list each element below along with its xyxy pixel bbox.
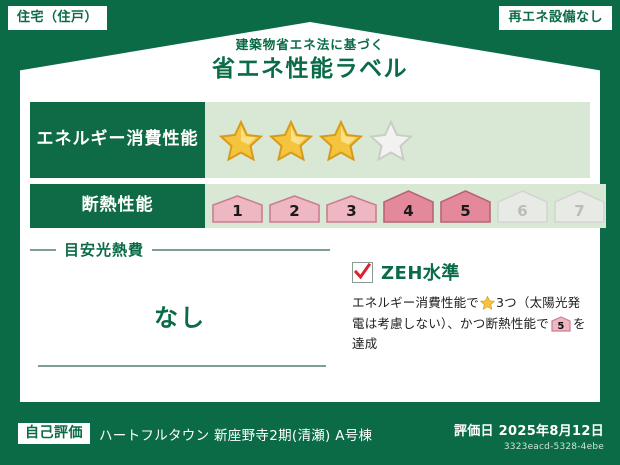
- grade-badge-number: 2: [268, 202, 321, 220]
- grade-badge: 7: [553, 190, 606, 223]
- grade-badge: 3: [325, 195, 378, 223]
- insulation-performance-row: 断熱性能 1 2: [30, 184, 590, 228]
- zeh-desc-part2: は考慮しない）、かつ断熱性能で: [365, 316, 549, 331]
- energy-performance-label-box: エネルギー消費性能: [30, 102, 205, 178]
- star-icon: [480, 295, 495, 310]
- energy-performance-label: 住宅（住戸） 再エネ設備なし 建築物省エネ法に基づく 省エネ性能ラベル エネルギ…: [0, 0, 620, 465]
- renewable-equipment-tag: 再エネ設備なし: [499, 6, 612, 30]
- zeh-desc-part1: エネルギー消費性能で: [352, 295, 479, 310]
- building-type-tag: 住宅（住戸）: [8, 6, 107, 30]
- utility-cost-title: 目安光熱費: [64, 239, 144, 260]
- insulation-performance-label-box: 断熱性能: [30, 184, 205, 228]
- star-rating: [219, 119, 413, 161]
- grade-badge: 5: [439, 190, 492, 223]
- grade-badge-number: 6: [496, 202, 549, 220]
- grade-badge-number: 3: [325, 202, 378, 220]
- grade-badge: 4: [382, 190, 435, 223]
- star-icon: [319, 119, 363, 161]
- inline-grade-number: 5: [551, 322, 571, 332]
- utility-cost-bottom-rule: [38, 365, 326, 367]
- label-footer: 自己評価 ハートフルタウン 新座野寺2期(清瀬) A号棟 評価日 2025年8月…: [0, 407, 620, 465]
- utility-cost-header: 目安光熱費: [30, 239, 330, 260]
- building-name: ハートフルタウン 新座野寺2期(清瀬) A号棟: [99, 424, 372, 444]
- insulation-grade-scale: 1 2 3: [205, 184, 606, 228]
- grade-badge-number: 4: [382, 202, 435, 220]
- footer-right: 評価日 2025年8月12日 3323eacd-5328-4ebe: [454, 420, 604, 452]
- grade-badge: 1: [211, 195, 264, 223]
- grade-badges: 1 2 3: [211, 190, 606, 223]
- lower-section: 目安光熱費 なし ZEH水準 エネルギー消費性能で3つ（太陽光発電は考慮しな: [30, 237, 590, 389]
- zeh-description: エネルギー消費性能で3つ（太陽光発電は考慮しない）、かつ断熱性能で5を達成: [352, 293, 590, 355]
- self-evaluation-badge: 自己評価: [18, 423, 90, 444]
- utility-cost-section: 目安光熱費 なし: [30, 237, 330, 389]
- evaluation-date: 評価日 2025年8月12日: [454, 420, 604, 439]
- star-icon: [369, 119, 413, 161]
- inline-grade-badge: 5: [551, 316, 571, 332]
- grade-badge: 2: [268, 195, 321, 223]
- footer-left: 自己評価 ハートフルタウン 新座野寺2期(清瀬) A号棟: [18, 423, 372, 444]
- rule-right: [152, 249, 330, 251]
- house-roof: [20, 22, 600, 100]
- evaluation-id: 3323eacd-5328-4ebe: [454, 442, 604, 452]
- rule-left: [30, 249, 56, 251]
- grade-badge-number: 1: [211, 202, 264, 220]
- grade-badge: 6: [496, 190, 549, 223]
- energy-performance-row: エネルギー消費性能: [30, 102, 590, 178]
- zeh-section: ZEH水準 エネルギー消費性能で3つ（太陽光発電は考慮しない）、かつ断熱性能で5…: [330, 237, 590, 389]
- check-icon: [354, 263, 371, 281]
- star-icon: [219, 119, 263, 161]
- star-icon: [269, 119, 313, 161]
- grade-badge-number: 7: [553, 202, 606, 220]
- grade-badge-number: 5: [439, 202, 492, 220]
- utility-cost-value: なし: [30, 298, 330, 333]
- zeh-title: ZEH水準: [381, 259, 460, 285]
- energy-performance-stars: [205, 102, 590, 178]
- zeh-header: ZEH水準: [352, 259, 590, 285]
- zeh-checkbox[interactable]: [352, 262, 373, 283]
- label-content: エネルギー消費性能: [30, 102, 590, 394]
